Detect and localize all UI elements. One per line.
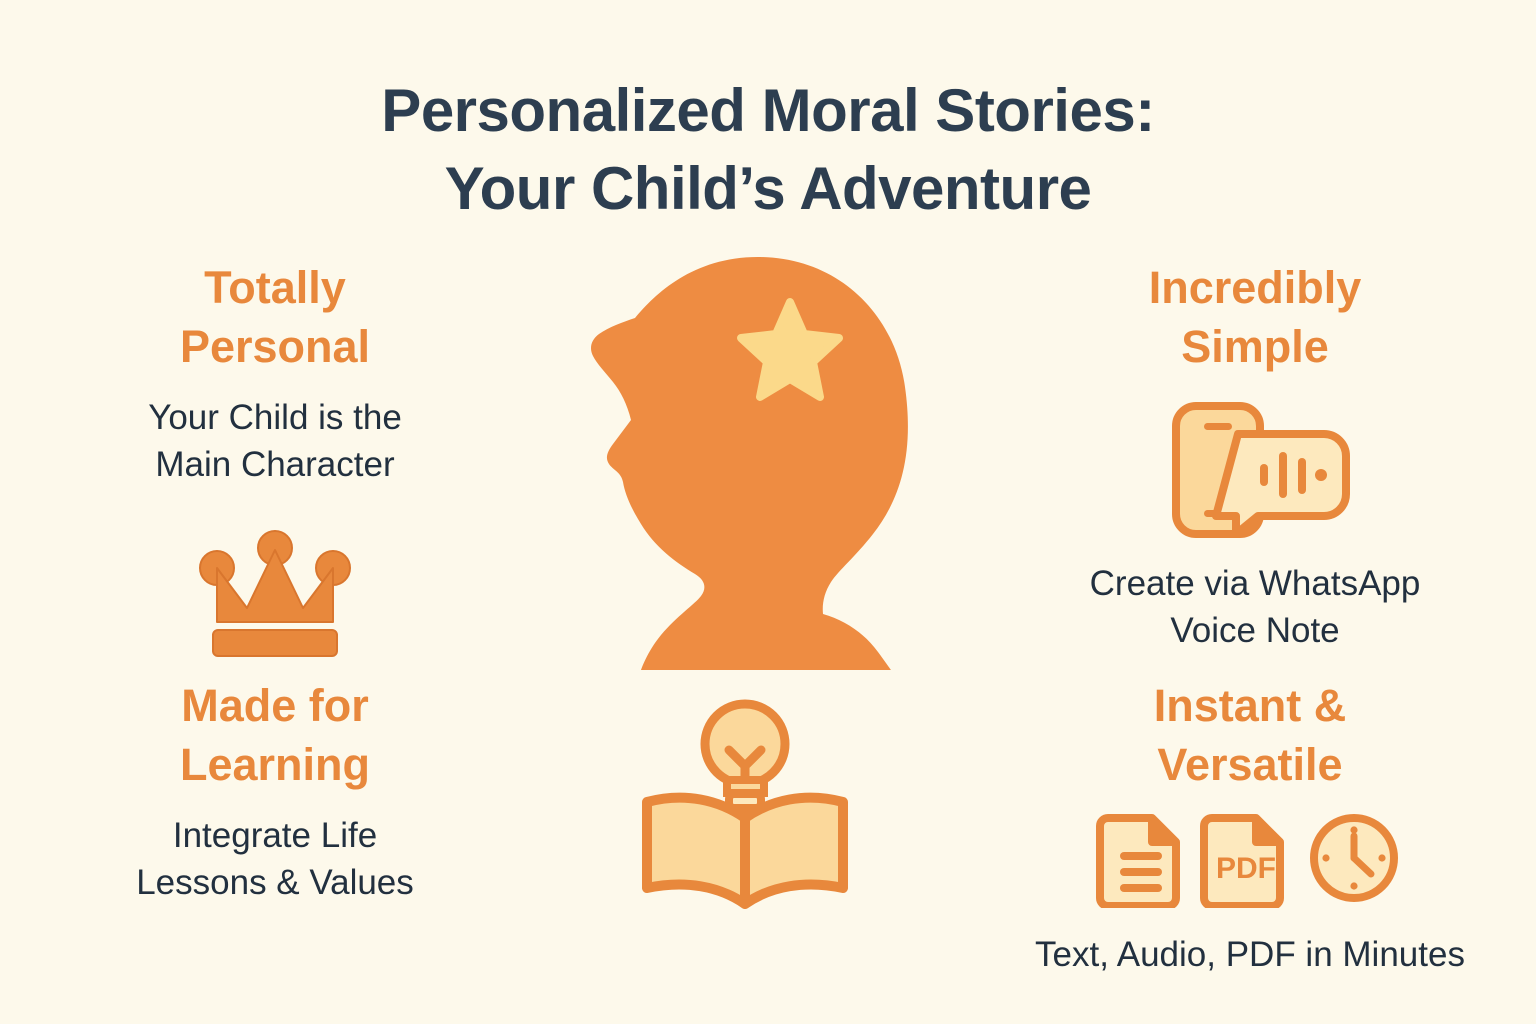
infographic-poster: Personalized Moral Stories: Your Child’s…: [0, 0, 1536, 1024]
feature-sub-line-2: Main Character: [40, 441, 510, 488]
feature-heading-line-2: Simple: [1020, 317, 1490, 376]
pdf-label: PDF: [1216, 852, 1276, 885]
open-book-lightbulb-icon: [633, 692, 858, 917]
title-line-1: Personalized Moral Stories:: [0, 72, 1536, 150]
feature-instant-versatile: Instant & Versatile: [1000, 676, 1500, 978]
feature-sub-line-1: Integrate Life: [40, 812, 510, 859]
crown-icon: [40, 530, 510, 658]
feature-sub-line-1: Your Child is the: [40, 394, 510, 441]
child-head-silhouette-icon: [583, 252, 928, 670]
feature-heading-line-2: Learning: [40, 735, 510, 794]
feature-sub-line-2: Lessons & Values: [40, 859, 510, 906]
pdf-file-icon: PDF: [1200, 808, 1292, 913]
feature-sub-line-2: Voice Note: [1020, 607, 1490, 654]
phone-voice-message-icon: [1020, 394, 1490, 544]
feature-heading-line-2: Versatile: [1000, 735, 1500, 794]
feature-made-for-learning: Made for Learning Integrate Life Lessons…: [40, 676, 510, 906]
feature-heading-line-1: Made for: [40, 676, 510, 735]
feature-incredibly-simple: Incredibly Simple Create via What: [1020, 258, 1490, 654]
document-icon: [1096, 808, 1188, 913]
title-line-2: Your Child’s Adventure: [0, 150, 1536, 228]
feature-heading-line-1: Instant &: [1000, 676, 1500, 735]
feature-sub-line-1: Text, Audio, PDF in Minutes: [1000, 931, 1500, 978]
output-format-icons: PDF: [1000, 808, 1500, 913]
feature-heading-line-2: Personal: [40, 317, 510, 376]
feature-sub-line-1: Create via WhatsApp: [1020, 560, 1490, 607]
clock-icon: [1304, 808, 1404, 913]
feature-totally-personal: Totally Personal Your Child is the Main …: [40, 258, 510, 658]
poster-title: Personalized Moral Stories: Your Child’s…: [0, 72, 1536, 228]
feature-heading-line-1: Incredibly: [1020, 258, 1490, 317]
feature-heading-line-1: Totally: [40, 258, 510, 317]
